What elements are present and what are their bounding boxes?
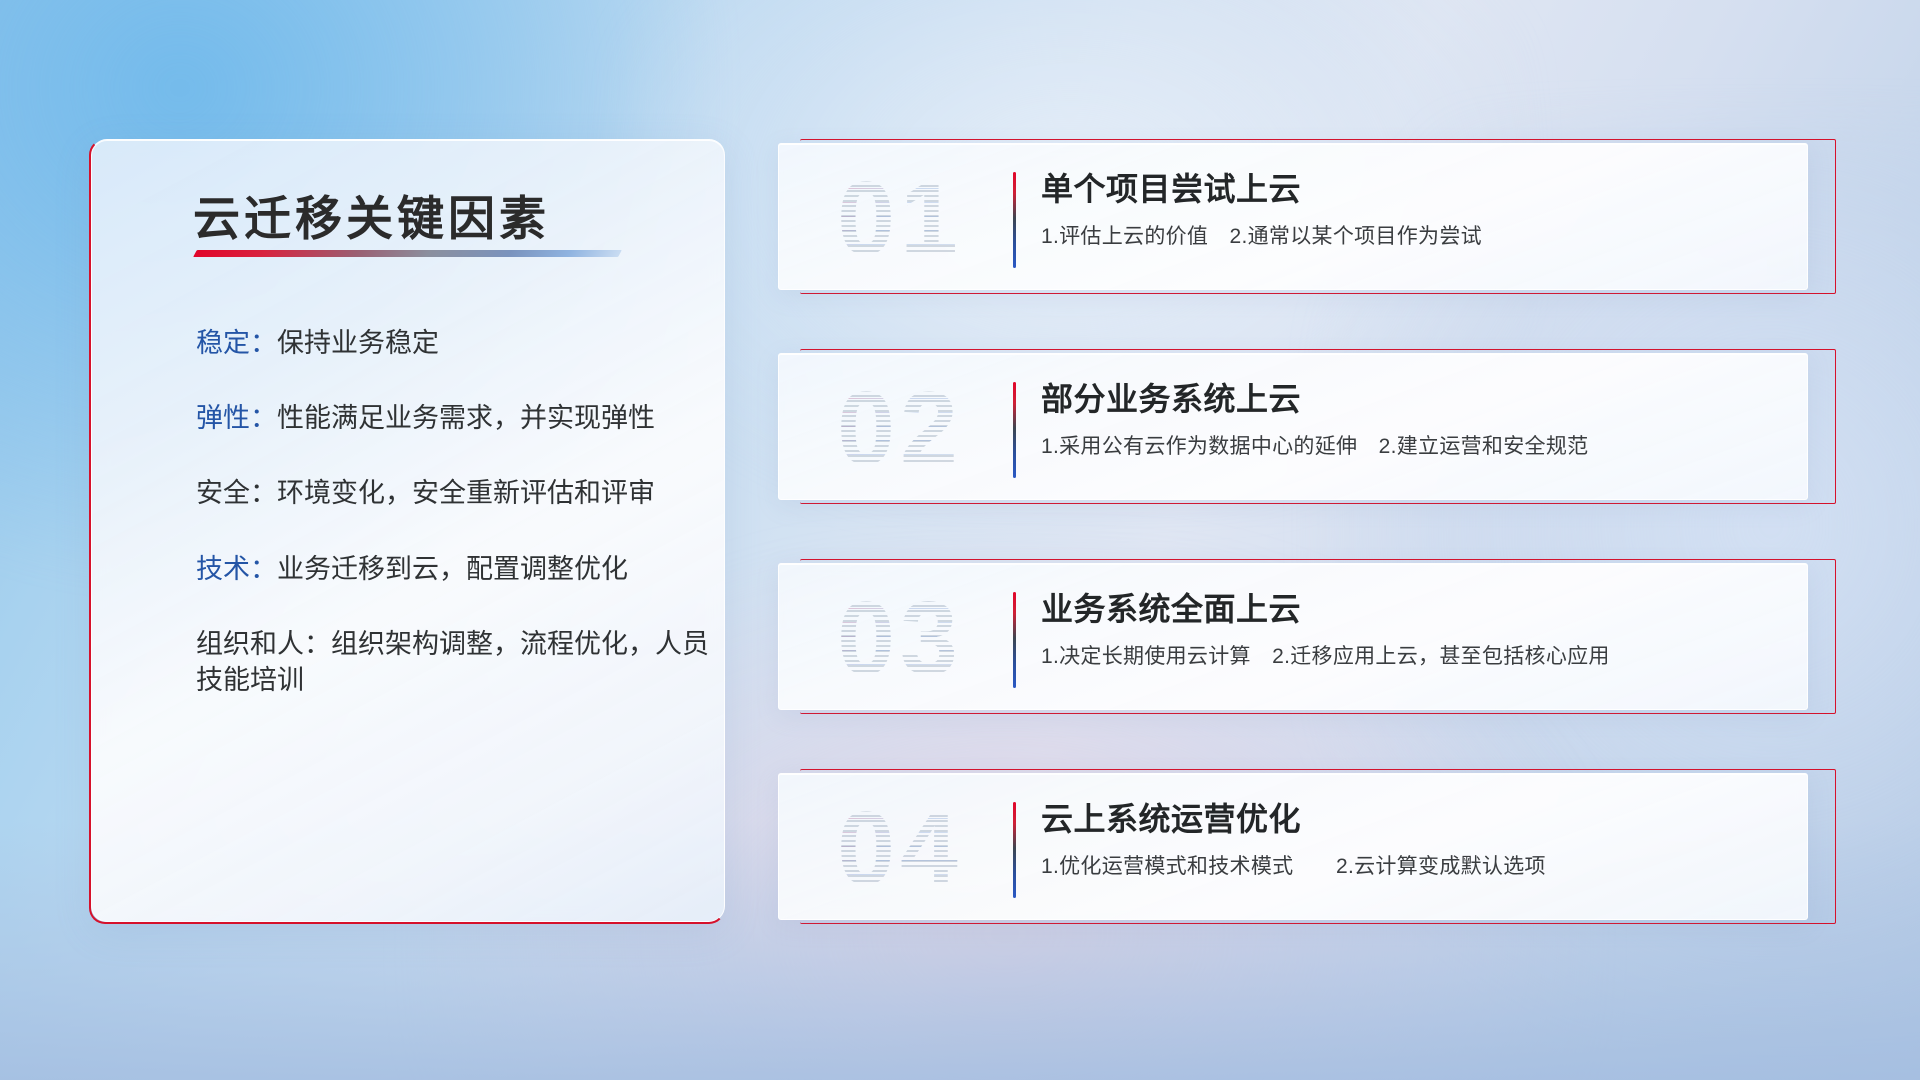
- factor-row: 技术：业务迁移到云，配置调整优化: [196, 551, 716, 587]
- migration-stage-card[interactable]: 0303业务系统全面上云1.决定长期使用云计算 2.迁移应用上云，甚至包括核心应…: [778, 559, 1836, 714]
- factor-text: 业务迁移到云，配置调整优化: [277, 554, 628, 584]
- migration-stage-card[interactable]: 0404云上系统运营优化1.优化运营模式和技术模式 2.云计算变成默认选项: [778, 769, 1836, 924]
- factor-label: 稳定：: [196, 328, 277, 358]
- stage-description: 1.采用公有云作为数据中心的延伸 2.建立运营和安全规范: [1041, 430, 1588, 460]
- factor-text: 保持业务稳定: [277, 328, 439, 358]
- stage-description: 1.决定长期使用云计算 2.迁移应用上云，甚至包括核心应用: [1041, 640, 1610, 670]
- migration-stage-card[interactable]: 0202部分业务系统上云1.采用公有云作为数据中心的延伸 2.建立运营和安全规范: [778, 349, 1836, 504]
- stage-title: 业务系统全面上云: [1041, 584, 1301, 630]
- stage-number-tint: 02: [805, 370, 995, 488]
- card-body: 0101单个项目尝试上云1.评估上云的价值 2.通常以某个项目作为尝试: [778, 143, 1808, 290]
- factor-label: 弹性：: [196, 403, 277, 433]
- stage-description: 1.优化运营模式和技术模式 2.云计算变成默认选项: [1041, 850, 1546, 880]
- factor-text: 性能满足业务需求，并实现弹性: [277, 403, 655, 433]
- key-factors-panel: 云迁移关键因素 稳定：保持业务稳定弹性：性能满足业务需求，并实现弹性安全：环境变…: [91, 139, 725, 922]
- migration-stage-list: 0101单个项目尝试上云1.评估上云的价值 2.通常以某个项目作为尝试0202部…: [778, 139, 1840, 929]
- card-divider: [1013, 802, 1016, 898]
- card-divider: [1013, 592, 1016, 688]
- card-divider: [1013, 172, 1016, 268]
- stage-description: 1.评估上云的价值 2.通常以某个项目作为尝试: [1041, 220, 1482, 250]
- page-title: 云迁移关键因素: [193, 180, 633, 249]
- stage-number-tint: 04: [805, 790, 995, 908]
- factor-row: 安全：环境变化，安全重新评估和评审: [196, 475, 716, 511]
- factor-label: 组织和人：: [196, 629, 331, 659]
- factor-text: 环境变化，安全重新评估和评审: [277, 478, 655, 508]
- stage-title: 单个项目尝试上云: [1041, 164, 1301, 210]
- card-body: 0202部分业务系统上云1.采用公有云作为数据中心的延伸 2.建立运营和安全规范: [778, 353, 1808, 500]
- factor-label: 安全：: [196, 478, 277, 508]
- factor-label: 技术：: [196, 554, 277, 584]
- stage-title: 云上系统运营优化: [1041, 794, 1301, 840]
- factor-row: 稳定：保持业务稳定: [196, 325, 716, 361]
- stage-number-tint: 01: [805, 160, 995, 278]
- factor-row: 组织和人：组织架构调整，流程优化，人员技能培训: [196, 626, 716, 698]
- factor-list: 稳定：保持业务稳定弹性：性能满足业务需求，并实现弹性安全：环境变化，安全重新评估…: [196, 325, 716, 737]
- card-body: 0404云上系统运营优化1.优化运营模式和技术模式 2.云计算变成默认选项: [778, 773, 1808, 920]
- card-divider: [1013, 382, 1016, 478]
- migration-stage-card[interactable]: 0101单个项目尝试上云1.评估上云的价值 2.通常以某个项目作为尝试: [778, 139, 1836, 294]
- stage-title: 部分业务系统上云: [1041, 374, 1301, 420]
- factor-row: 弹性：性能满足业务需求，并实现弹性: [196, 400, 716, 436]
- title-underline: [193, 250, 622, 257]
- stage-number-tint: 03: [805, 580, 995, 698]
- card-body: 0303业务系统全面上云1.决定长期使用云计算 2.迁移应用上云，甚至包括核心应…: [778, 563, 1808, 710]
